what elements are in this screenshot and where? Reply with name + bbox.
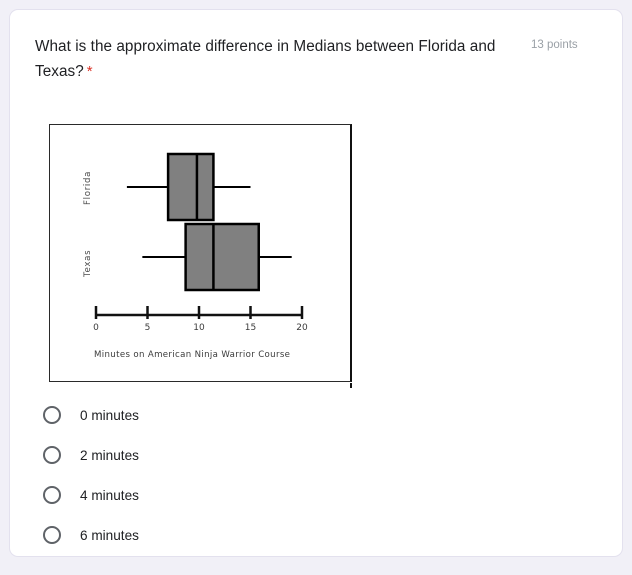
category-label-texas: Texas	[83, 250, 93, 277]
x-tick-label: 15	[245, 323, 256, 333]
required-asterisk: *	[87, 63, 93, 80]
radio-icon[interactable]	[43, 486, 61, 504]
option-row[interactable]: 0 minutes	[35, 395, 435, 435]
radio-icon[interactable]	[43, 446, 61, 464]
question-card: What is the approximate difference in Me…	[9, 9, 623, 557]
option-label: 2 minutes	[80, 448, 139, 463]
points-badge: 13 points	[531, 39, 578, 51]
x-tick-label: 10	[193, 323, 204, 333]
boxplot-chart: Florida Texas Minutes on American Ninja …	[49, 124, 352, 382]
x-axis-title: Minutes on American Ninja Warrior Course	[94, 350, 290, 360]
x-tick-label: 20	[296, 323, 307, 333]
option-label: 6 minutes	[80, 528, 139, 543]
question-title: What is the approximate difference in Me…	[35, 34, 527, 84]
category-label-florida: Florida	[83, 171, 93, 205]
question-header: What is the approximate difference in Me…	[35, 34, 605, 84]
option-row[interactable]: 4 minutes	[35, 475, 435, 515]
answer-options: 0 minutes 2 minutes 4 minutes 6 minutes	[35, 395, 435, 555]
x-tick-label: 5	[145, 323, 151, 333]
boxplot-svg	[50, 125, 351, 381]
question-text: What is the approximate difference in Me…	[35, 38, 495, 80]
option-row[interactable]: 6 minutes	[35, 515, 435, 555]
radio-icon[interactable]	[43, 526, 61, 544]
radio-icon[interactable]	[43, 406, 61, 424]
option-label: 4 minutes	[80, 488, 139, 503]
option-row[interactable]: 2 minutes	[35, 435, 435, 475]
option-label: 0 minutes	[80, 408, 139, 423]
x-tick-label: 0	[93, 323, 99, 333]
